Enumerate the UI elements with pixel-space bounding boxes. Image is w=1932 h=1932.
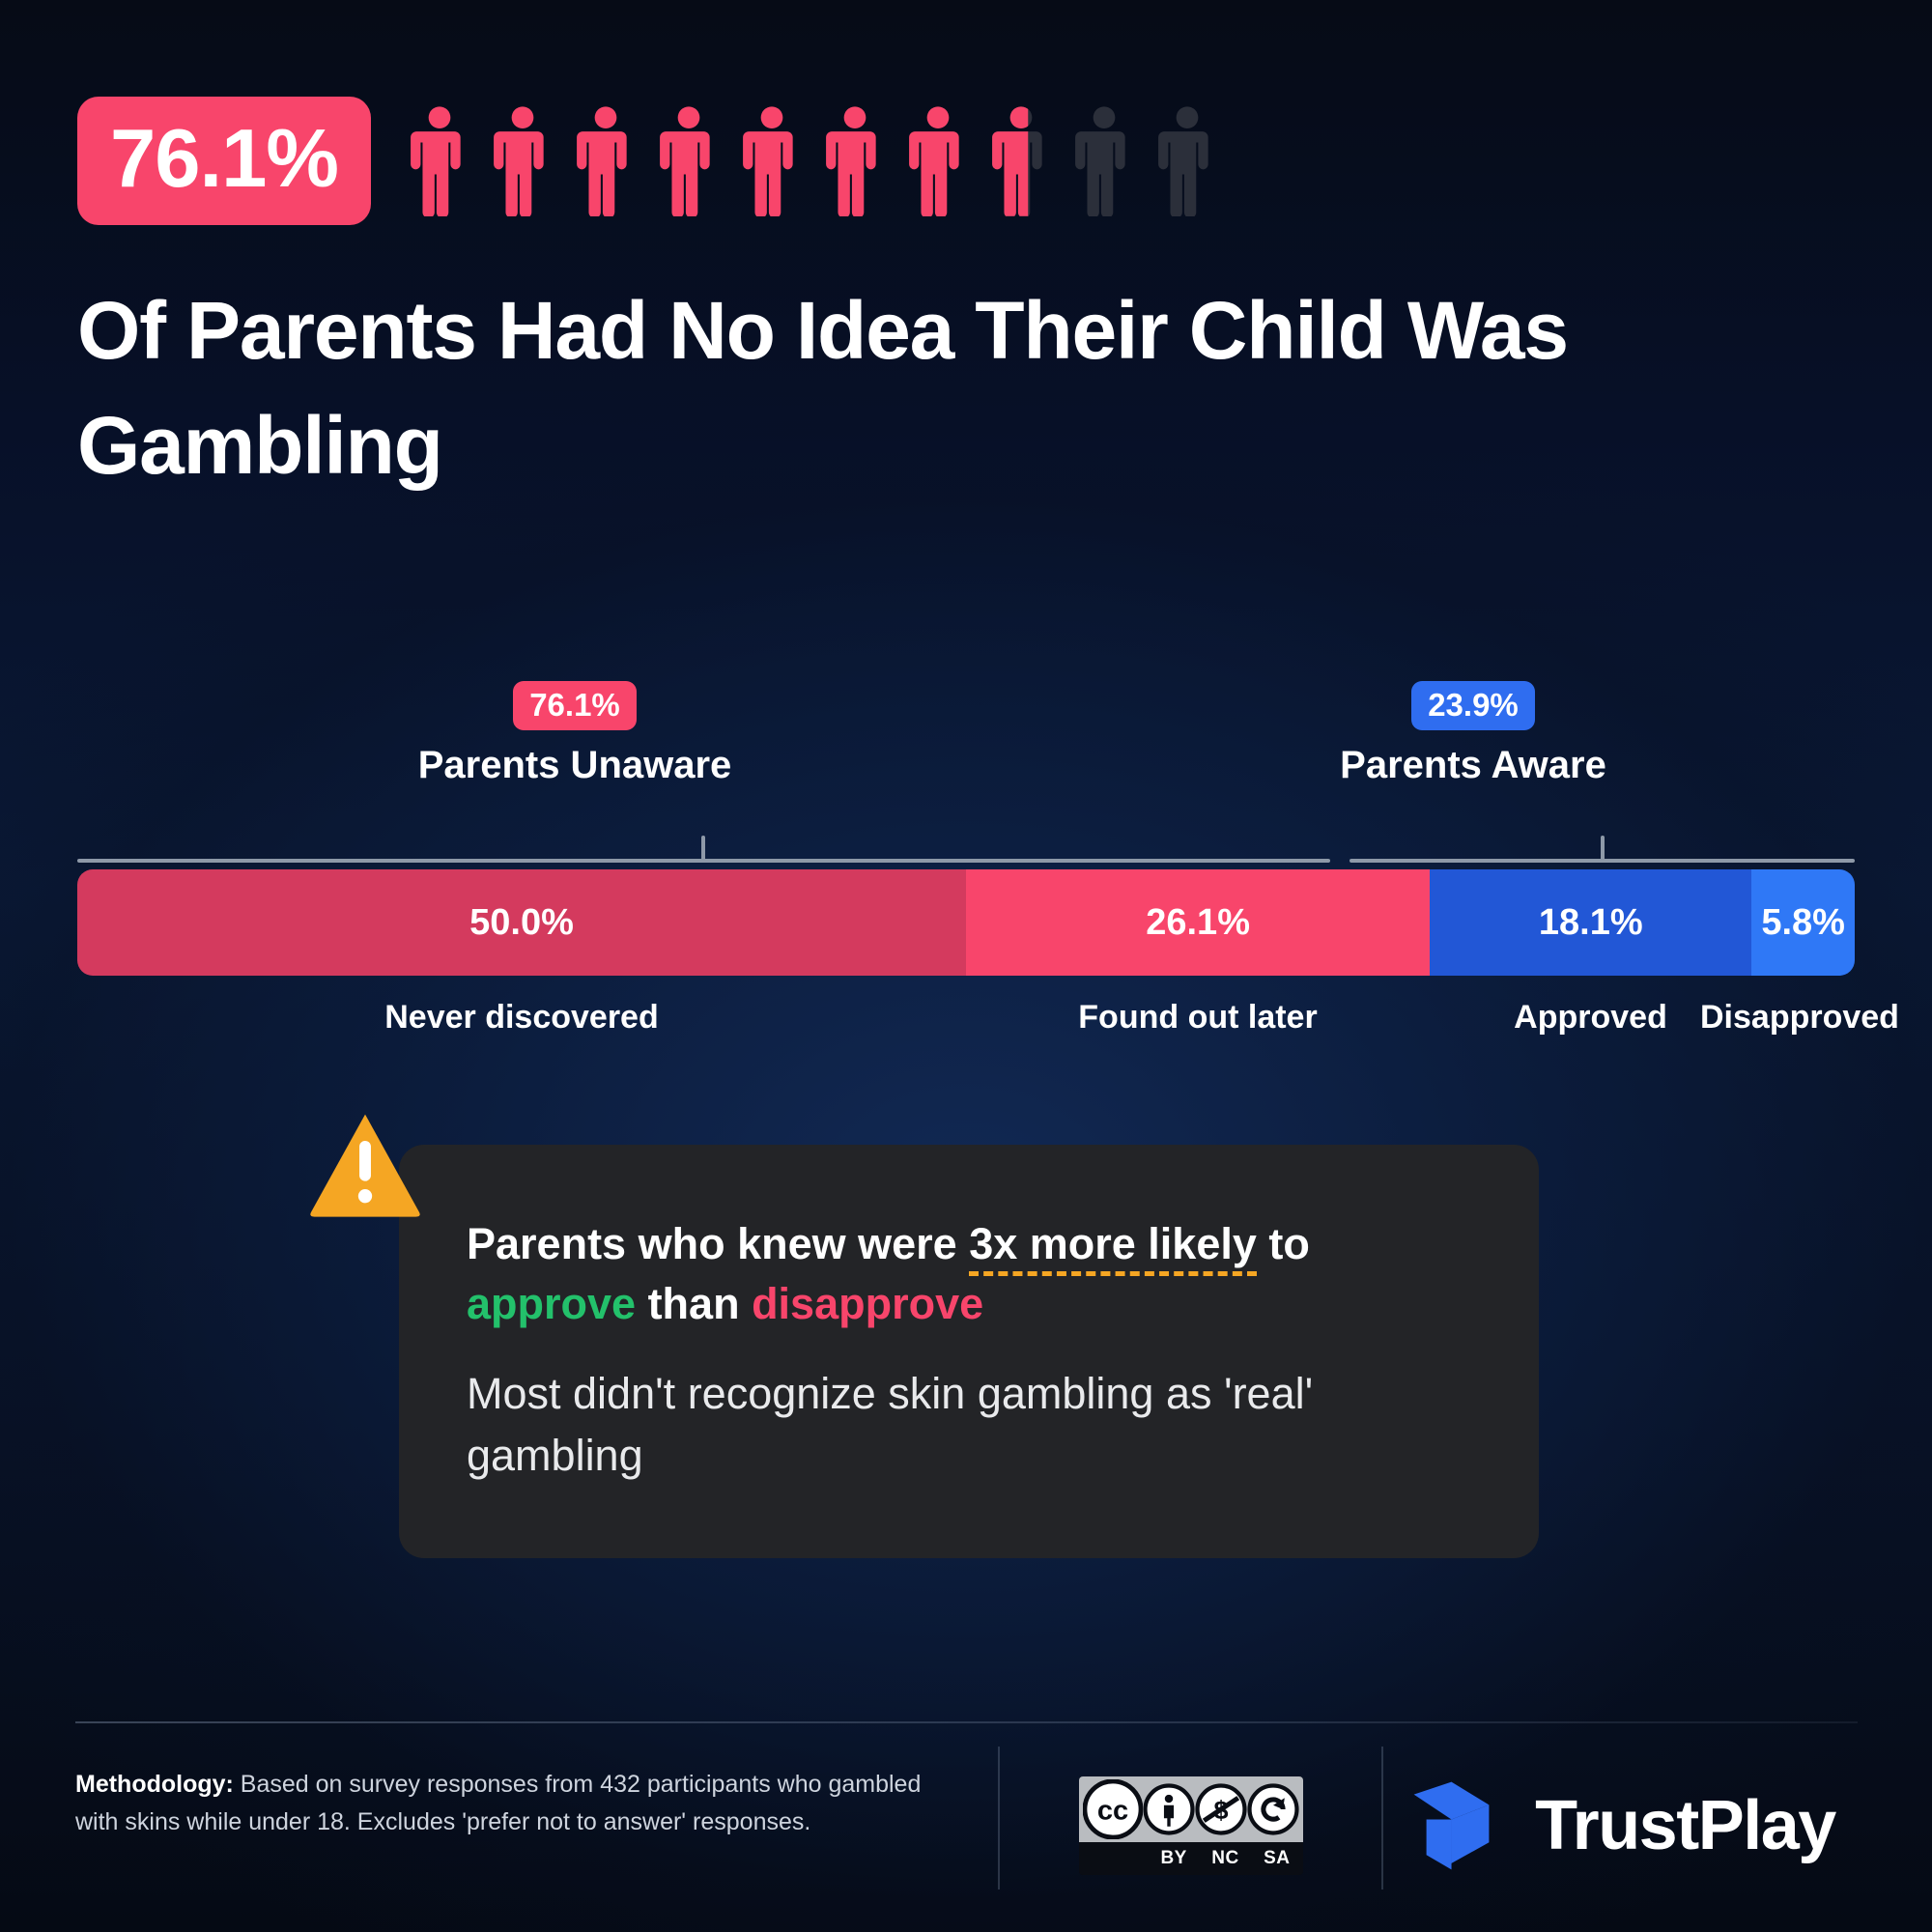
callout-text-a: Parents who knew were xyxy=(467,1219,969,1268)
bar-segment-value: 50.0% xyxy=(469,902,574,944)
group-bracket-zone: 76.1% Parents Unaware 23.9% Parents Awar… xyxy=(77,681,1855,867)
callout-word-disapprove: disapprove xyxy=(752,1279,983,1328)
stacked-bar-zone: 50.0% 26.1% 18.1% 5.8% Never discovered … xyxy=(77,869,1855,1066)
footer: Methodology: Based on survey responses f… xyxy=(75,1739,1858,1913)
group-unaware-pill: 76.1% xyxy=(513,681,637,730)
bar-segment-value: 5.8% xyxy=(1761,902,1845,944)
person-icon xyxy=(989,102,1053,216)
trustplay-logo-icon xyxy=(1406,1774,1510,1878)
bar-segment-approved[interactable]: 18.1% xyxy=(1430,869,1751,976)
cc-term-sa: SA xyxy=(1251,1848,1302,1869)
brand-name: TrustPlay xyxy=(1535,1786,1835,1865)
methodology-label: Methodology: xyxy=(75,1771,234,1798)
bracket-unaware-tick xyxy=(701,836,705,861)
person-icon xyxy=(574,102,638,216)
bar-label-never-discovered: Never discovered xyxy=(77,999,966,1037)
bracket-rules xyxy=(77,836,1855,867)
license-area: cc $ xyxy=(1000,1739,1381,1913)
cc-nc-nocommercial-icon: $ xyxy=(1195,1783,1247,1835)
callout-headline: Parents who knew were 3x more likely to … xyxy=(467,1214,1471,1334)
person-icon xyxy=(1155,102,1219,216)
hero-stat-badge: 76.1% xyxy=(77,97,371,225)
callout-wrapper: Parents who knew were 3x more likely to … xyxy=(399,1145,1539,1558)
cc-badge-terms-row: BY NC SA xyxy=(1079,1842,1303,1875)
cc-badge-icons-row: cc $ xyxy=(1079,1776,1303,1842)
cc-term-by: BY xyxy=(1149,1848,1200,1869)
person-icon xyxy=(823,102,887,216)
callout-box: Parents who knew were 3x more likely to … xyxy=(399,1145,1539,1558)
bar-segment-found-out-later[interactable]: 26.1% xyxy=(966,869,1430,976)
footer-divider xyxy=(75,1721,1858,1723)
callout-highlight-3x: 3x more likely xyxy=(969,1219,1257,1276)
person-icon xyxy=(657,102,721,216)
cc-sa-sharealike-icon xyxy=(1247,1783,1299,1835)
bar-segment-value: 26.1% xyxy=(1146,902,1250,944)
pictogram-people-row xyxy=(408,102,1219,220)
bar-segment-never-discovered[interactable]: 50.0% xyxy=(77,869,966,976)
group-unaware: 76.1% Parents Unaware xyxy=(77,681,1072,787)
bar-label-found-out-later: Found out later xyxy=(966,999,1430,1037)
bar-category-labels: Never discovered Found out later Approve… xyxy=(77,999,1855,1066)
person-icon xyxy=(740,102,804,216)
callout-text-c: than xyxy=(636,1279,752,1328)
bracket-aware-tick xyxy=(1601,836,1605,861)
bar-segment-value: 18.1% xyxy=(1539,902,1643,944)
group-aware: 23.9% Parents Aware xyxy=(1092,681,1855,787)
stacked-bar: 50.0% 26.1% 18.1% 5.8% xyxy=(77,869,1855,976)
callout-word-approve: approve xyxy=(467,1279,636,1328)
svg-text:cc: cc xyxy=(1096,1796,1127,1827)
group-unaware-label: Parents Unaware xyxy=(77,744,1072,787)
brand-logo[interactable]: TrustPlay xyxy=(1383,1739,1858,1913)
person-icon xyxy=(1072,102,1136,216)
cc-badge-icon[interactable]: cc $ xyxy=(1079,1776,1303,1875)
person-icon xyxy=(491,102,554,216)
callout-subtext: Most didn't recognize skin gambling as '… xyxy=(467,1363,1471,1487)
cc-by-person-icon xyxy=(1143,1783,1195,1835)
group-aware-pill: 23.9% xyxy=(1411,681,1535,730)
cc-term-nc: NC xyxy=(1200,1848,1251,1869)
methodology-note: Methodology: Based on survey responses f… xyxy=(75,1739,998,1913)
callout-text-b: to xyxy=(1257,1219,1310,1268)
bar-segment-disapproved[interactable]: 5.8% xyxy=(1751,869,1855,976)
bar-label-disapproved: Disapproved xyxy=(1700,999,1855,1037)
page-title: Of Parents Had No Idea Their Child Was G… xyxy=(77,273,1845,504)
warning-triangle-icon xyxy=(307,1111,423,1219)
infographic-canvas: 76.1% Of Parents Had No Idea Their Child… xyxy=(0,0,1932,1932)
group-labels: 76.1% Parents Unaware 23.9% Parents Awar… xyxy=(77,681,1855,836)
person-icon xyxy=(906,102,970,216)
hero-row: 76.1% xyxy=(77,97,1219,225)
cc-circle-icon: cc xyxy=(1083,1779,1143,1839)
person-icon xyxy=(408,102,471,216)
group-aware-label: Parents Aware xyxy=(1092,744,1855,787)
